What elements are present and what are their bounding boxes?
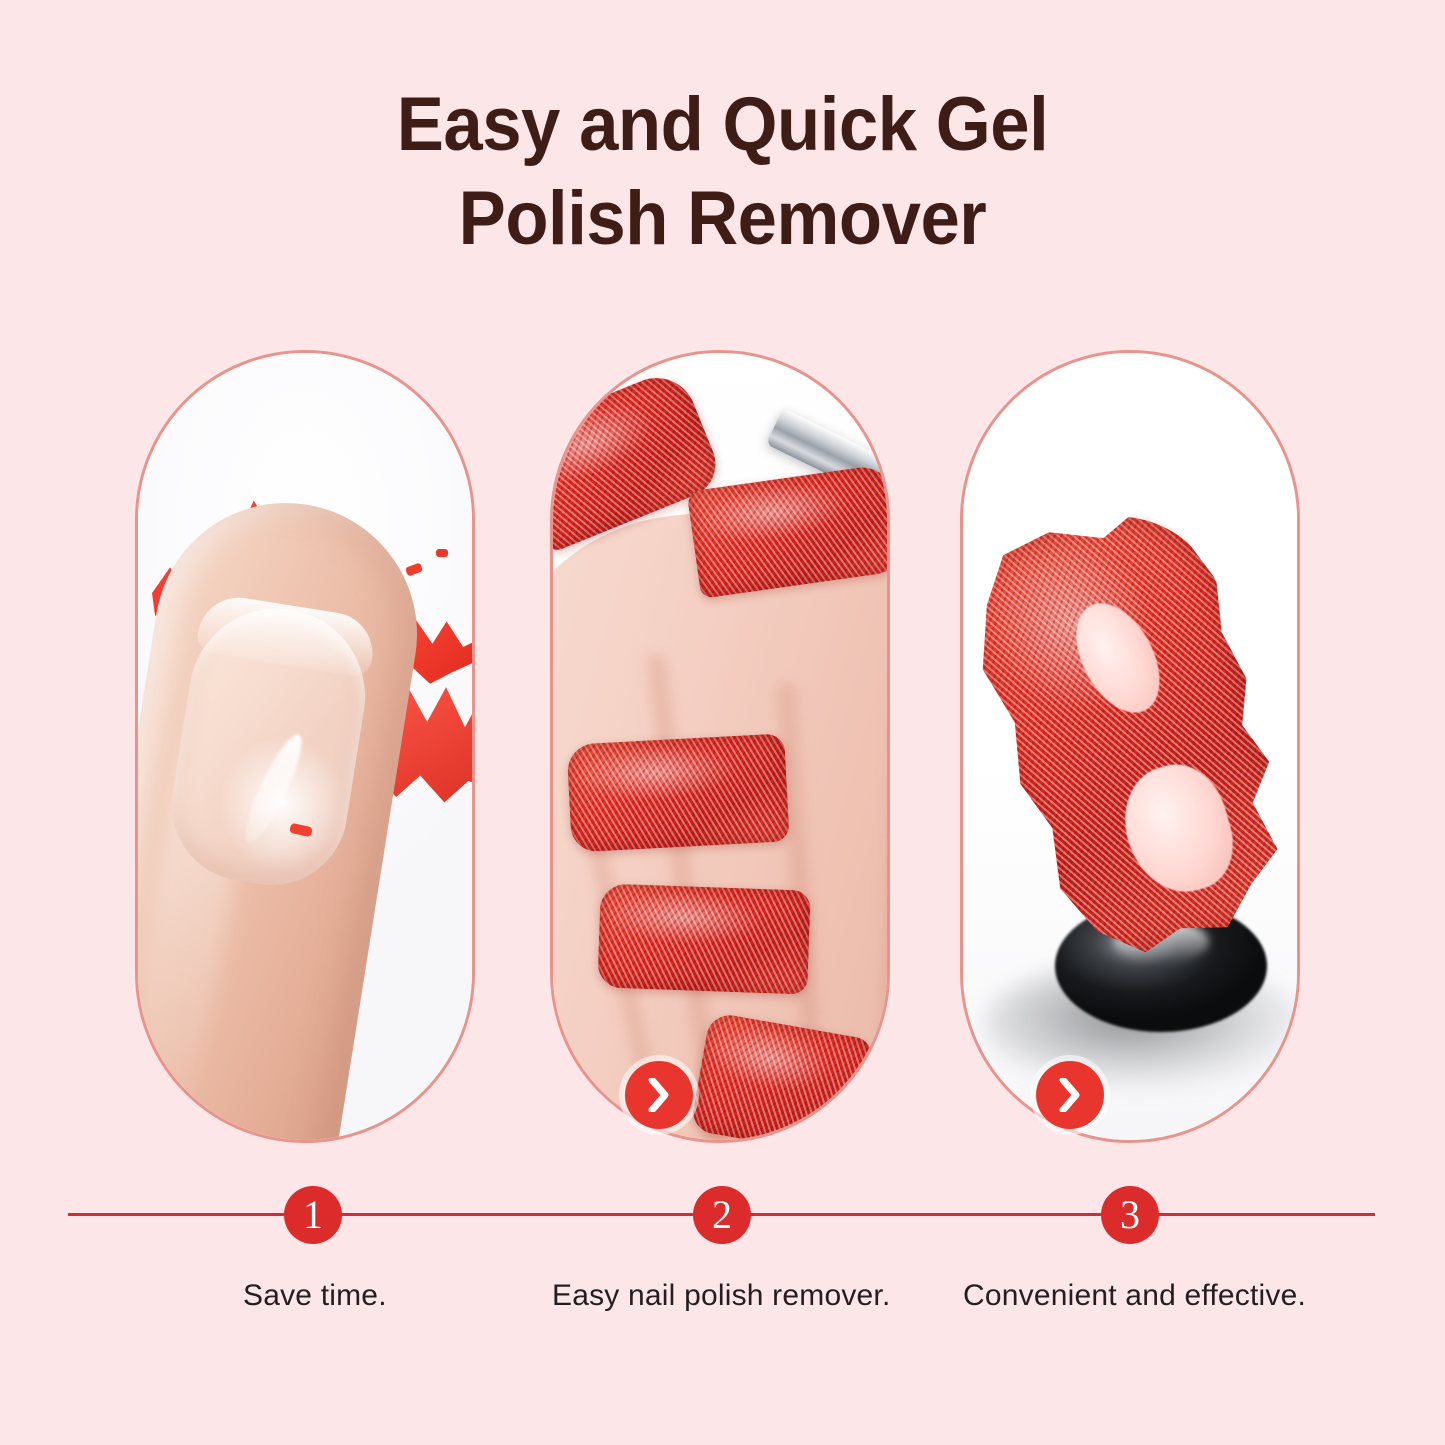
chevron-right-icon	[648, 1078, 670, 1112]
chevron-right-icon	[1059, 1078, 1081, 1112]
gel-nail	[597, 883, 811, 994]
step-badge-2: 2	[693, 1186, 751, 1244]
step-badge-3: 3	[1101, 1186, 1159, 1244]
step-panel-1	[135, 350, 475, 1143]
step-badge-1: 1	[284, 1186, 342, 1244]
step-panel-3	[960, 350, 1300, 1143]
step-3-image	[963, 353, 1297, 1140]
step-caption-1: Save time.	[243, 1276, 387, 1316]
arrow-step-1-to-2	[625, 1061, 693, 1129]
polish-flake	[436, 549, 448, 557]
title-line-1: Easy and Quick Gel	[51, 78, 1395, 172]
arrow-step-2-to-3	[1036, 1061, 1104, 1129]
step-caption-3: Convenient and effective.	[963, 1276, 1306, 1316]
title-line-2: Polish Remover	[51, 172, 1395, 266]
step-2-image	[553, 353, 887, 1140]
step-image-panels	[135, 350, 1305, 1143]
step-panel-2	[550, 350, 890, 1143]
page-title: Easy and Quick Gel Polish Remover	[0, 78, 1445, 266]
bare-nail	[161, 596, 378, 896]
nail-tip	[195, 592, 378, 679]
gel-nail	[566, 733, 789, 852]
step-1-image	[138, 353, 472, 1140]
step-caption-2: Easy nail polish remover.	[552, 1276, 891, 1316]
